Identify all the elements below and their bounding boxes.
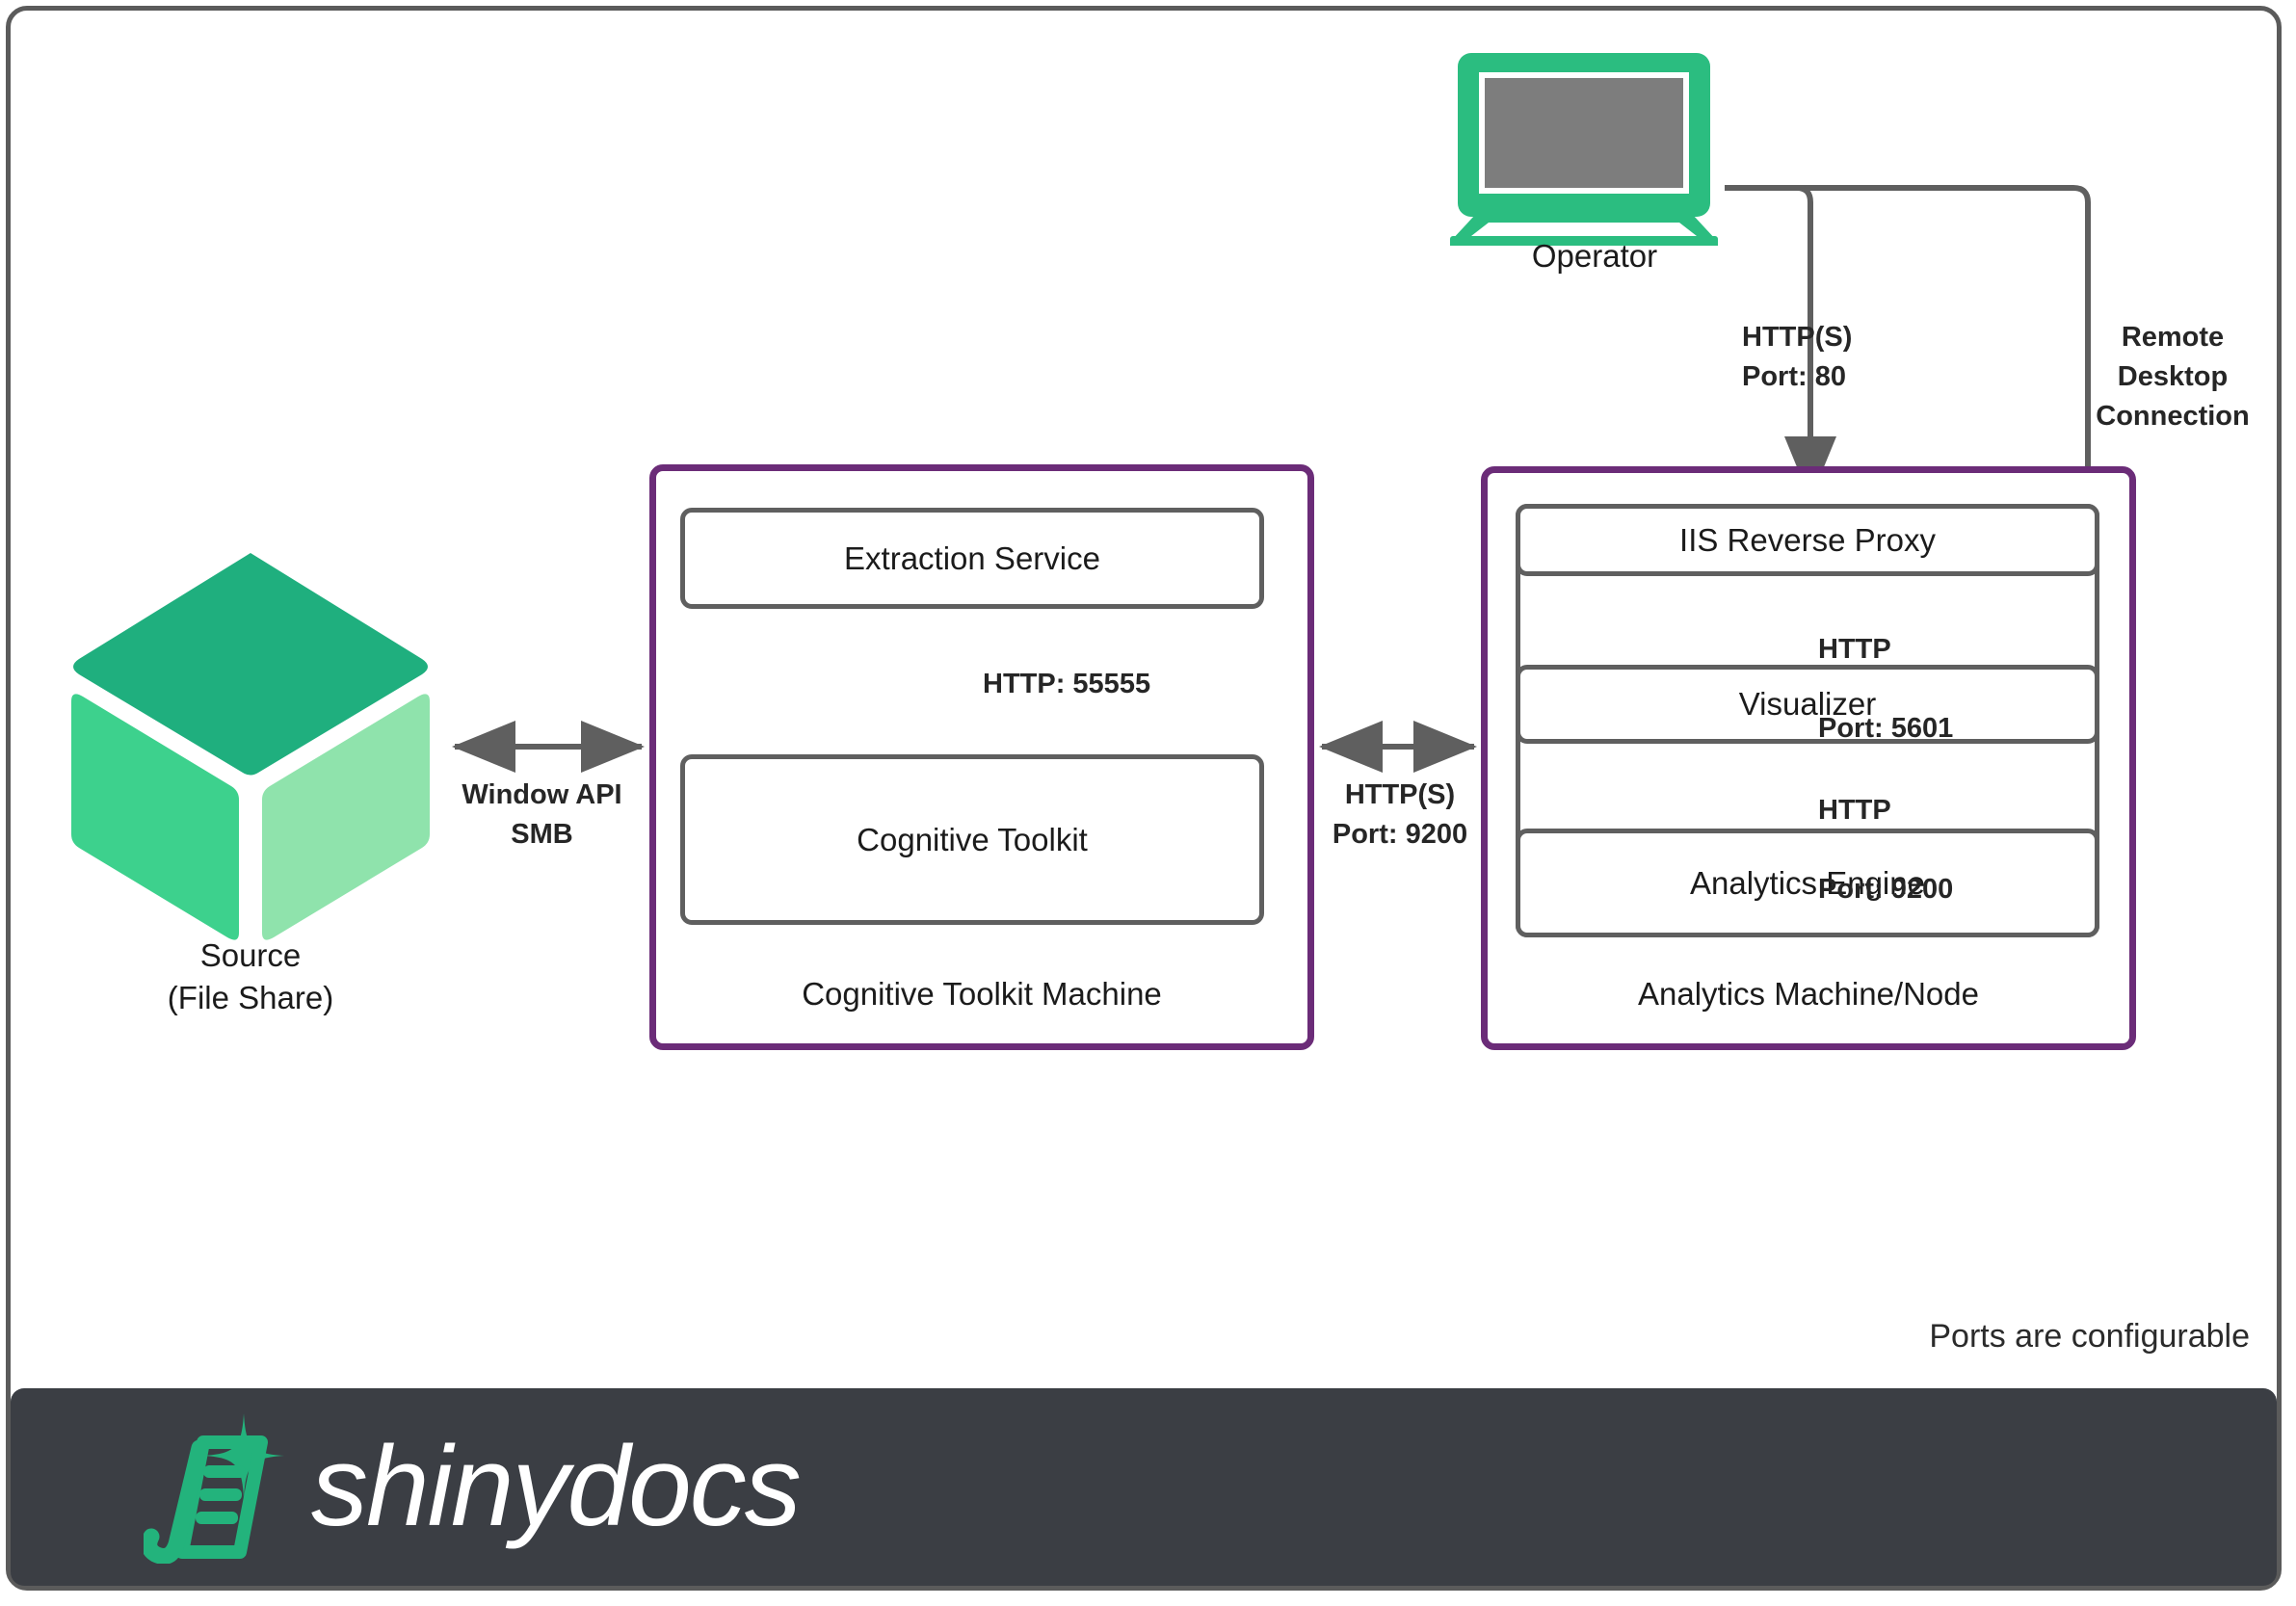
analytics-machine-caption: Analytics Machine/Node <box>1488 976 2129 1013</box>
cognitive-toolkit-machine-caption: Cognitive Toolkit Machine <box>656 976 1307 1013</box>
brand-footer: shinydocs <box>11 1388 2277 1586</box>
source-label: Source (File Share) <box>58 935 443 1019</box>
shinydocs-logo-icon <box>144 1409 298 1564</box>
iis-reverse-proxy-box[interactable]: IIS Reverse Proxy <box>1516 504 2099 576</box>
label-ctk-to-analytics: HTTP(S) Port: 9200 <box>1318 776 1482 855</box>
extraction-service-box[interactable]: Extraction Service <box>680 508 1264 609</box>
cognitive-toolkit-box[interactable]: Cognitive Toolkit <box>680 754 1264 925</box>
label-iis-to-visualizer-port: Port: 5601 <box>1818 709 2030 749</box>
source-label-line1: Source <box>58 935 443 977</box>
label-visualizer-to-engine-protocol: HTTP <box>1818 791 2030 830</box>
cube-icon <box>58 540 443 944</box>
label-ctk-internal-link: HTTP: 55555 <box>983 665 1233 704</box>
ports-configurable-note: Ports are configurable <box>1929 1318 2250 1356</box>
label-visualizer-to-engine-port: Port: 9200 <box>1818 870 2030 909</box>
brand-lockup: shinydocs <box>144 1409 800 1564</box>
label-operator-to-iis: HTTP(S) Port: 80 <box>1742 318 1896 397</box>
label-source-to-ctk: Window API SMB <box>438 776 646 855</box>
operator-node: Operator <box>1450 53 1739 294</box>
laptop-icon <box>1450 53 1729 246</box>
diagram-canvas: Cognitive Toolkit Machine --> Cognitive … <box>0 0 2296 1606</box>
label-visualizer-to-engine: HTTP Port: 9200 <box>1818 751 2030 949</box>
operator-label: Operator <box>1412 238 1778 275</box>
source-node: Source (File Share) <box>58 540 443 1079</box>
label-iis-to-visualizer-protocol: HTTP <box>1818 630 2030 670</box>
brand-wordmark: shinydocs <box>311 1430 800 1543</box>
source-label-line2: (File Share) <box>58 977 443 1019</box>
label-remote-desktop-connection: Remote Desktop Connection <box>2076 318 2269 436</box>
